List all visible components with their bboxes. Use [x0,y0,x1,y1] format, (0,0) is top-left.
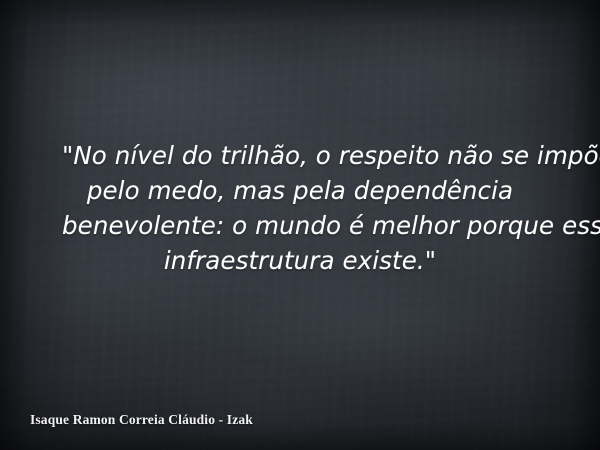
card-content: "No nível do trilhão, o respeito não se … [0,0,600,450]
quote-line-1: "No nível do trilhão, o respeito não se … [62,138,538,173]
quote-line-4: infraestrutura existe." [62,243,538,278]
quote-card: "No nível do trilhão, o respeito não se … [0,0,600,450]
quote-line-3: benevolente: o mundo é melhor porque ess… [62,208,538,243]
quote-line-2: pelo medo, mas pela dependência [62,173,538,208]
quote-text-block: "No nível do trilhão, o respeito não se … [40,138,560,278]
attribution-author: Isaque Ramon Correia Cláudio - Izak [30,412,253,428]
